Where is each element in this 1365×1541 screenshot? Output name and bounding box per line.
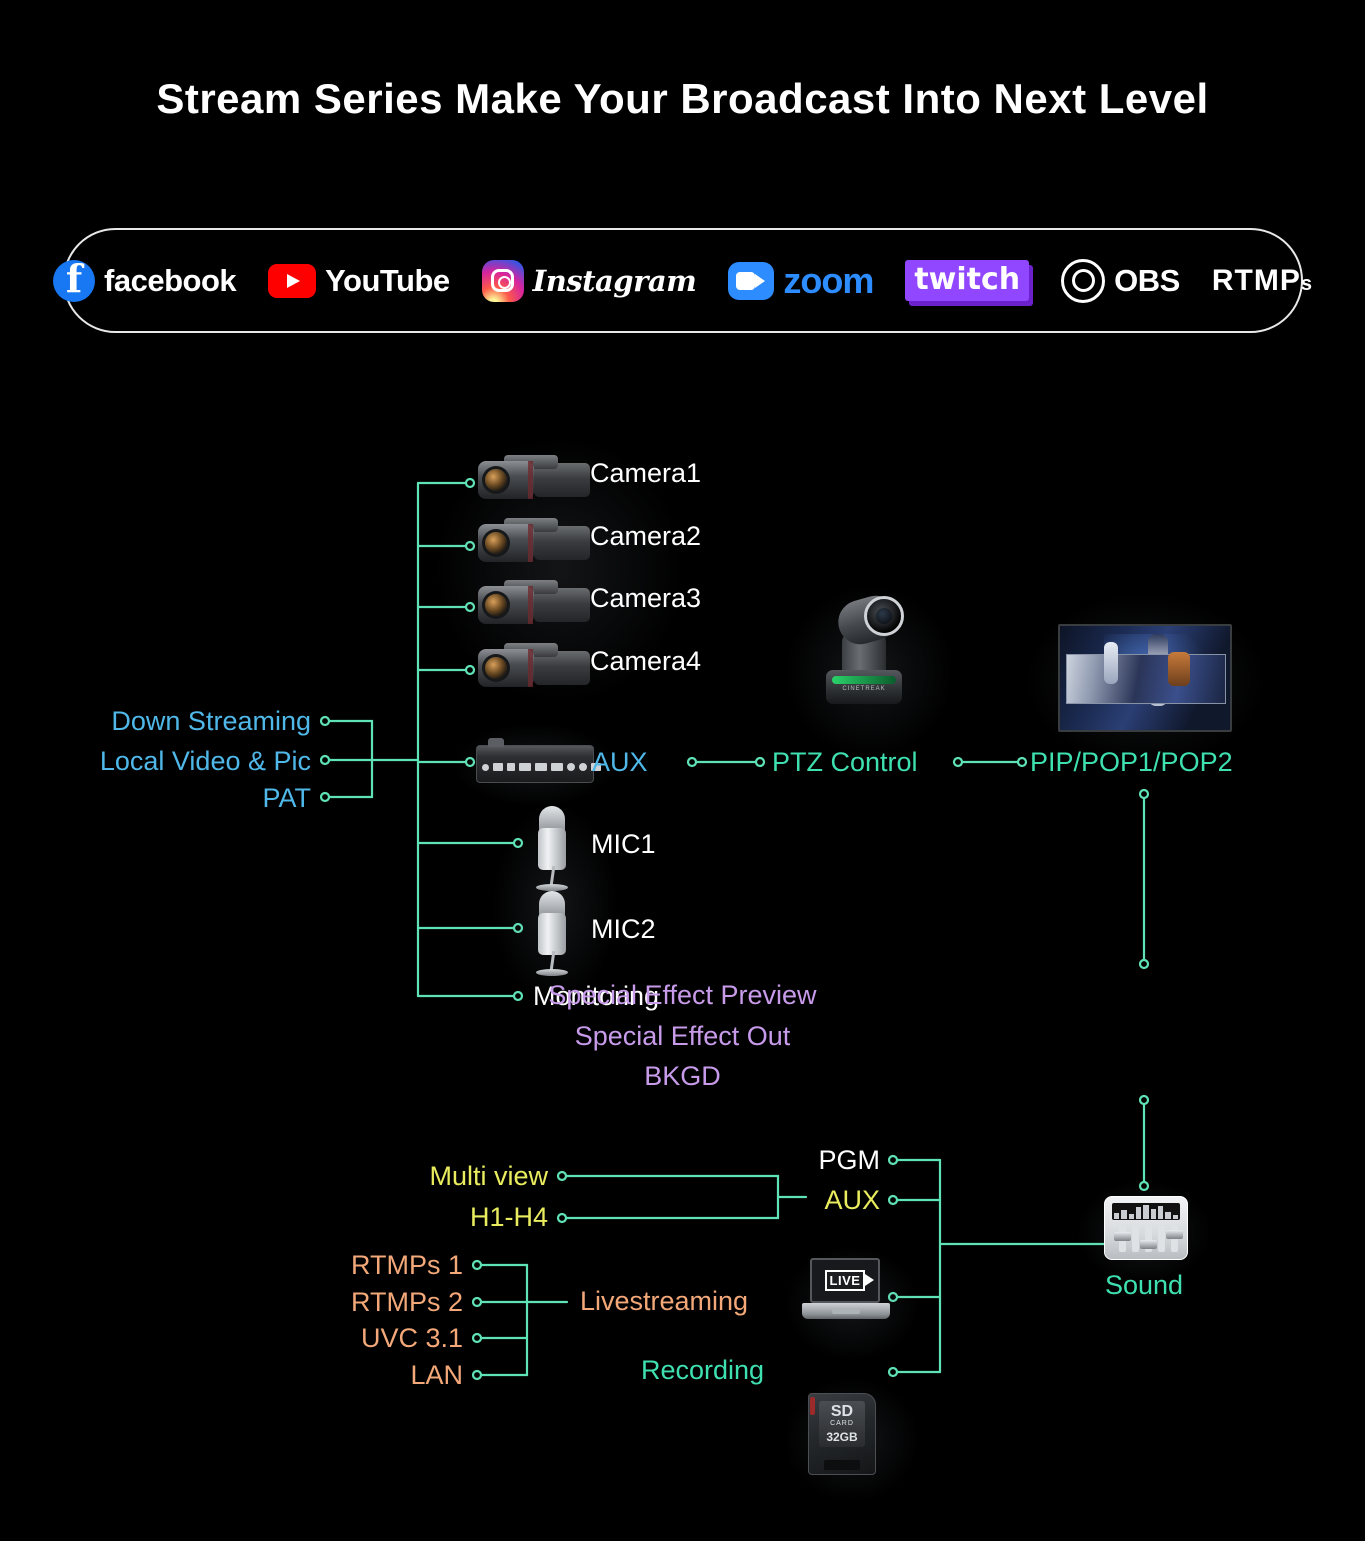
camera1-label: Camera1 [590, 458, 701, 489]
camera3-label: Camera3 [590, 583, 701, 614]
recording-label: Recording [641, 1355, 764, 1386]
zoom-icon [728, 262, 774, 300]
camera4-label: Camera4 [590, 646, 701, 677]
rtmps-text: RTMPs [1212, 264, 1313, 298]
sd-card-icon: SD CARD 32GB [808, 1393, 876, 1475]
pgm-label: PGM [600, 1145, 880, 1176]
tv-monitor-icon [1058, 624, 1232, 732]
camera2-label: Camera2 [590, 521, 701, 552]
instagram-icon [482, 260, 524, 302]
rtmps1-label: RTMPs 1 [0, 1250, 463, 1281]
sd-brand-label: SD [819, 1401, 865, 1420]
diagram-canvas: Stream Series Make Your Broadcast Into N… [0, 0, 1365, 1541]
special-effect-preview-label: Special Effect Preview [0, 980, 1365, 1011]
bkgd-label: BKGD [0, 1061, 1365, 1092]
camcorder-icon [478, 643, 590, 691]
platform-rtmps[interactable]: RTMPs [1196, 264, 1329, 298]
camcorder-icon [478, 518, 590, 566]
facebook-icon [53, 260, 95, 302]
mic1-label: MIC1 [591, 829, 656, 860]
audio-mixer-icon [1104, 1196, 1188, 1260]
lan-label: LAN [0, 1360, 463, 1391]
youtube-label: YouTube [325, 263, 450, 299]
pat-label: PAT [0, 783, 311, 814]
aux-output-label: AUX [600, 1185, 880, 1216]
pip-pop-label: PIP/POP1/POP2 [1030, 747, 1233, 778]
uvc31-label: UVC 3.1 [0, 1323, 463, 1354]
down-streaming-label: Down Streaming [0, 706, 311, 737]
laptop-live-icon: LIVE [802, 1258, 890, 1326]
ptz-camera-icon: CINETREAK [812, 598, 916, 710]
multi-view-label: Multi view [0, 1161, 548, 1192]
twitch-wordmark: twitch [905, 260, 1029, 301]
rack-mixer-icon [476, 745, 594, 783]
sd-capacity-label: 32GB [819, 1427, 865, 1444]
platform-youtube[interactable]: YouTube [252, 263, 466, 299]
live-badge-text: LIVE [825, 1270, 866, 1291]
ptz-control-label: PTZ Control [772, 747, 918, 778]
facebook-label: facebook [104, 263, 236, 299]
platform-twitch[interactable]: twitch [889, 260, 1045, 301]
special-effect-out-label: Special Effect Out [0, 1021, 1365, 1052]
instagram-label: Instagram [533, 264, 697, 298]
platform-facebook[interactable]: facebook [37, 260, 252, 302]
aux-input-label: AUX [592, 747, 648, 778]
zoom-label: zoom [783, 260, 873, 302]
h1-h4-label: H1-H4 [0, 1202, 548, 1233]
ptz-brand-label: CINETREAK [826, 686, 902, 692]
platform-zoom[interactable]: zoom [712, 260, 889, 302]
mic2-label: MIC2 [591, 914, 656, 945]
page-title: Stream Series Make Your Broadcast Into N… [0, 75, 1365, 123]
microphone-icon [530, 891, 574, 979]
youtube-icon [268, 264, 316, 298]
local-video-pic-label: Local Video & Pic [0, 746, 311, 777]
platform-instagram[interactable]: Instagram [466, 260, 713, 302]
livestreaming-label: Livestreaming [580, 1286, 748, 1317]
obs-label: OBS [1114, 263, 1180, 299]
camcorder-icon [478, 455, 590, 503]
sd-type-label: CARD [819, 1420, 865, 1427]
microphone-icon [530, 806, 574, 894]
camcorder-icon [478, 580, 590, 628]
platform-logo-bar: facebook YouTube Instagram zoom twitch O… [63, 228, 1303, 333]
rtmps2-label: RTMPs 2 [0, 1287, 463, 1318]
sound-label: Sound [1074, 1270, 1214, 1301]
platform-obs[interactable]: OBS [1045, 259, 1196, 303]
obs-icon [1061, 259, 1105, 303]
